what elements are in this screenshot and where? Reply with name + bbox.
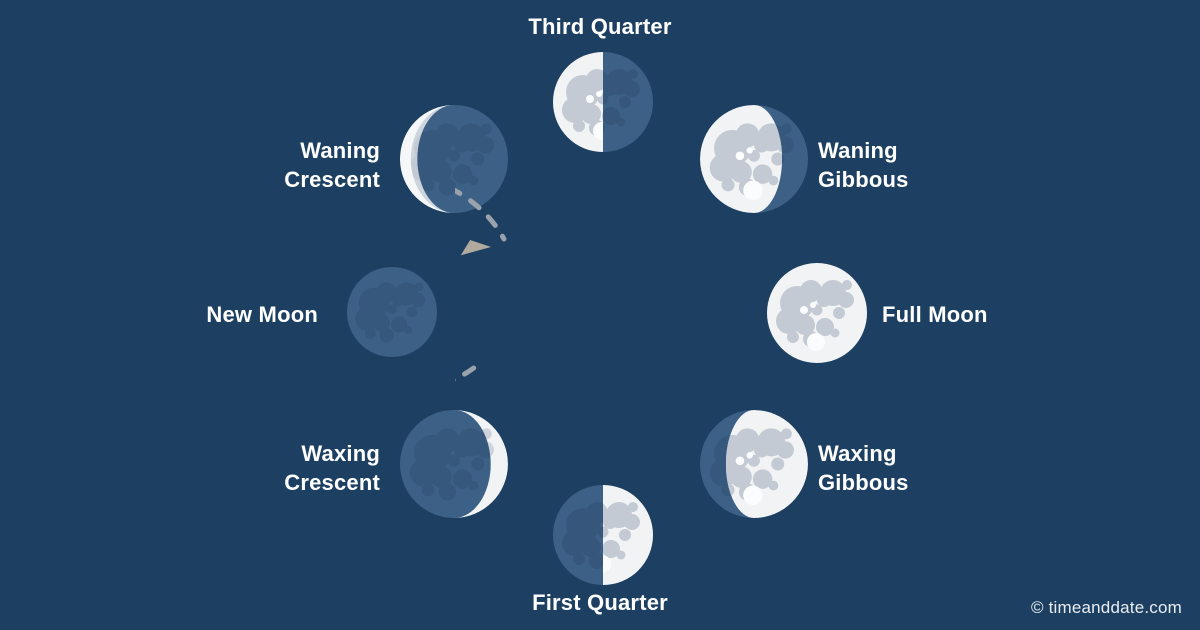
label-new-moon: New Moon (20, 300, 318, 329)
moon-third-quarter (553, 52, 653, 152)
label-waning-crescent: Waning Crescent (80, 136, 380, 194)
label-full-moon: Full Moon (882, 300, 1182, 329)
label-first-quarter: First Quarter (440, 588, 760, 617)
label-waning-gibbous: Waning Gibbous (818, 136, 1118, 194)
rotation-arrow-icon (455, 185, 745, 435)
label-waxing-gibbous: Waxing Gibbous (818, 439, 1118, 497)
label-waxing-crescent: Waxing Crescent (80, 439, 380, 497)
moon-new-moon (347, 267, 437, 357)
watermark-timeanddate: © timeanddate.com (1031, 598, 1182, 618)
label-third-quarter: Third Quarter (440, 12, 760, 41)
moon-first-quarter (553, 485, 653, 585)
moon-phases-diagram: Third Quarter Waning Gibbous Full Moon W… (0, 0, 1200, 630)
moon-full-moon (767, 263, 867, 363)
